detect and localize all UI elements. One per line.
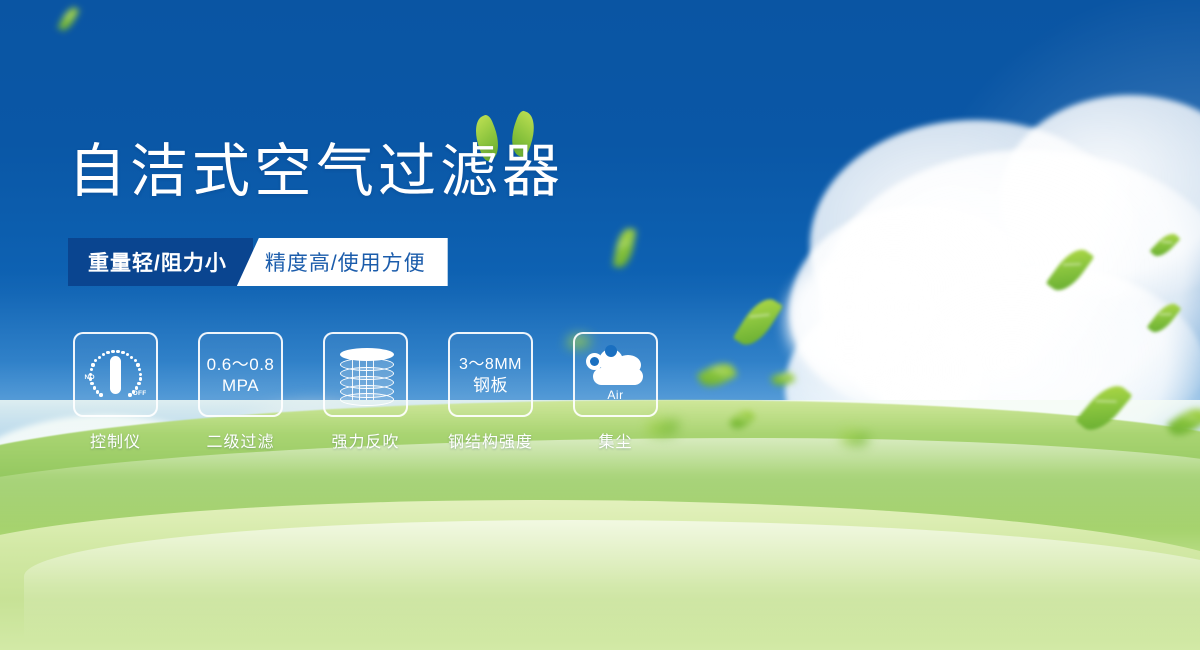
gauge-needle bbox=[110, 356, 121, 394]
subtitle-secondary: 精度高/使用方便 bbox=[237, 238, 448, 286]
feature-box bbox=[323, 332, 408, 417]
cloud-puff bbox=[785, 300, 995, 475]
gauge-tick bbox=[132, 390, 135, 393]
feature-caption: 集尘 bbox=[598, 428, 632, 452]
steel-material: 钢板 bbox=[473, 375, 508, 396]
cloud-puff bbox=[120, 440, 420, 605]
subtitle-primary: 重量轻/阻力小 bbox=[68, 238, 253, 286]
sun-hole bbox=[590, 357, 599, 366]
product-banner: 自洁式空气过滤器 重量轻/阻力小 精度高/使用方便 NO OFF 控制仪 0.6… bbox=[0, 0, 1200, 650]
gauge-tick bbox=[90, 382, 93, 385]
leaf-icon bbox=[1046, 243, 1095, 298]
gauge-tick bbox=[137, 382, 140, 385]
gauge-tick bbox=[106, 351, 109, 354]
cloud-puff bbox=[300, 455, 580, 610]
feature-caption: 强力反吹 bbox=[331, 428, 399, 452]
gauge-tick bbox=[94, 359, 97, 362]
headline-block: 自洁式空气过滤器 bbox=[68, 140, 564, 204]
leaf-icon bbox=[771, 370, 796, 389]
gauge-tick bbox=[139, 373, 142, 376]
cloud-puff bbox=[720, 500, 1090, 615]
cloud-base bbox=[593, 368, 643, 385]
grass-near-field bbox=[0, 500, 1200, 650]
cloud-puff bbox=[40, 512, 330, 612]
cloud-air-icon bbox=[585, 347, 647, 387]
feature-item-controller[interactable]: NO OFF 控制仪 bbox=[68, 332, 163, 452]
leaf-icon bbox=[728, 407, 755, 433]
cloud-puff bbox=[820, 150, 1200, 450]
gauge-tick bbox=[98, 356, 101, 359]
gauge-tick bbox=[99, 393, 102, 396]
pressure-value: 0.6～0.8 bbox=[207, 354, 275, 375]
cloud-puff bbox=[1000, 95, 1200, 300]
page-title: 自洁式空气过滤器 bbox=[68, 140, 564, 204]
gauge-tick bbox=[121, 351, 124, 354]
gauge-tick bbox=[93, 386, 96, 389]
leaf-icon bbox=[1150, 229, 1181, 260]
steel-thickness: 3～8MM bbox=[459, 354, 522, 375]
subtitle-bar: 重量轻/阻力小 精度高/使用方便 bbox=[68, 238, 448, 286]
cloud-puff bbox=[470, 470, 730, 610]
gauge-tick bbox=[91, 363, 94, 366]
leaf-icon bbox=[613, 227, 637, 269]
gauge-icon: NO OFF bbox=[86, 347, 146, 403]
gauge-tick bbox=[138, 368, 141, 371]
leaf-icon bbox=[1075, 378, 1132, 439]
filter-stack-icon bbox=[338, 346, 394, 404]
gauge-tick bbox=[126, 353, 129, 356]
leaf-icon bbox=[733, 292, 784, 352]
feature-item-steel[interactable]: 3～8MM 钢板 钢结构强度 bbox=[443, 332, 538, 452]
air-label: Air bbox=[607, 388, 623, 402]
cloud-puff bbox=[785, 255, 945, 385]
sky-glow bbox=[780, 0, 1200, 520]
feature-caption: 钢结构强度 bbox=[448, 428, 533, 452]
cloud-puff bbox=[330, 505, 660, 615]
cloud-puff bbox=[880, 265, 1200, 505]
cloud-puff bbox=[1010, 455, 1200, 605]
feature-box: 0.6～0.8 MPA bbox=[198, 332, 283, 417]
gauge-tick bbox=[96, 390, 99, 393]
grass-path-highlight bbox=[24, 520, 1200, 640]
filter-ring bbox=[340, 393, 394, 406]
feature-box: Air bbox=[573, 332, 658, 417]
cloud-puff bbox=[810, 120, 1140, 370]
gauge-tick bbox=[136, 363, 139, 366]
gauge-tick bbox=[139, 377, 142, 380]
cloud-puff bbox=[640, 450, 940, 610]
cloud-puff bbox=[790, 205, 1050, 415]
feature-list: NO OFF 控制仪 0.6～0.8 MPA 二级过滤 bbox=[68, 332, 663, 452]
feature-caption: 二级过滤 bbox=[206, 428, 274, 452]
gauge-tick bbox=[128, 393, 131, 396]
leaf-icon bbox=[840, 426, 870, 449]
feature-box: 3～8MM 钢板 bbox=[448, 332, 533, 417]
leaf-icon bbox=[58, 5, 80, 33]
feature-item-filtration[interactable]: 0.6～0.8 MPA 二级过滤 bbox=[193, 332, 288, 452]
gauge-tick bbox=[90, 368, 93, 371]
feature-box: NO OFF bbox=[73, 332, 158, 417]
gauge-tick bbox=[102, 353, 105, 356]
grass-ridge-highlight bbox=[0, 438, 1200, 558]
feature-item-backblow[interactable]: 强力反吹 bbox=[318, 332, 413, 452]
leaf-icon bbox=[1147, 299, 1182, 337]
pressure-unit: MPA bbox=[222, 375, 259, 396]
gauge-tick bbox=[130, 356, 133, 359]
leaf-icon bbox=[696, 358, 737, 393]
feature-caption: 控制仪 bbox=[90, 428, 141, 452]
leaf-icon bbox=[1166, 402, 1200, 441]
gauge-tick bbox=[111, 350, 114, 353]
feature-item-dust[interactable]: Air 集尘 bbox=[568, 332, 663, 452]
cloud-puff bbox=[850, 430, 1180, 610]
gauge-tick bbox=[134, 359, 137, 362]
gauge-tick bbox=[116, 350, 119, 353]
